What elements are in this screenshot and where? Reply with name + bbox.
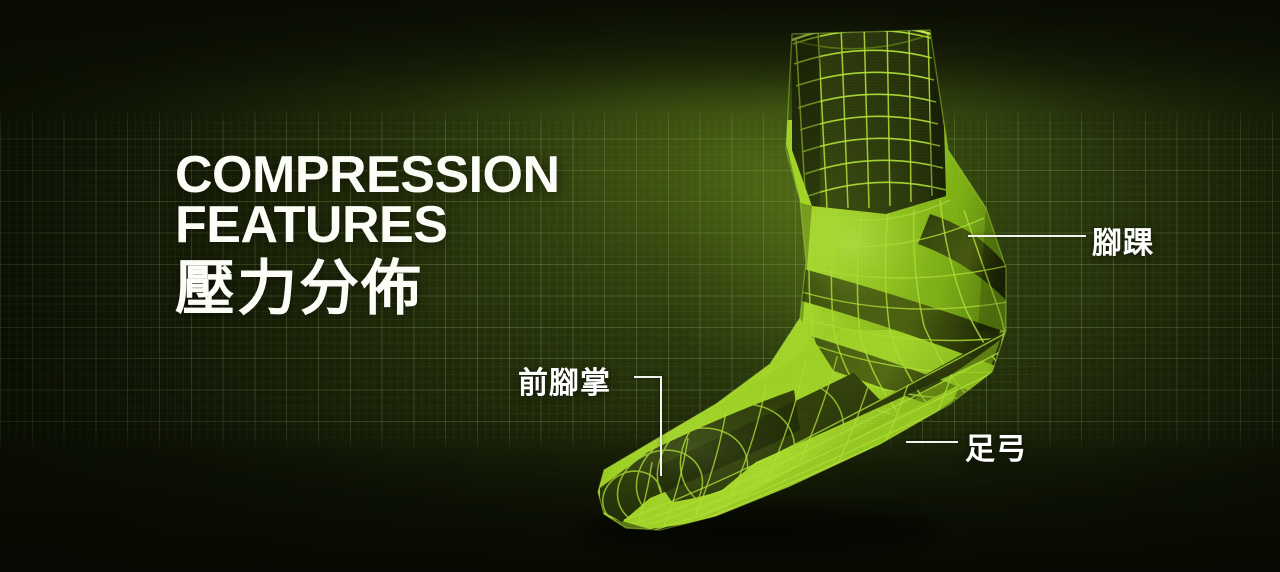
headline-cjk: 壓力分佈 — [175, 256, 695, 322]
callout-arch-leader-line — [906, 441, 958, 443]
compression-features-banner: COMPRESSION FEATURES 壓力分佈 腳踝 足弓 前腳掌 — [0, 0, 1280, 572]
callout-ankle-leader-line — [968, 235, 1086, 237]
callout-forefoot-leader-horizontal — [634, 376, 662, 378]
callout-ankle-label: 腳踝 — [1092, 218, 1154, 262]
headline-en-line2: FEATURES — [175, 200, 695, 250]
callout-forefoot-label: 前腳掌 — [518, 358, 611, 402]
headline-en-line1: COMPRESSION — [175, 150, 695, 200]
callout-forefoot-leader-vertical — [660, 376, 662, 476]
callout-arch-label: 足弓 — [965, 424, 1027, 468]
headline-block: COMPRESSION FEATURES 壓力分佈 — [175, 150, 695, 322]
